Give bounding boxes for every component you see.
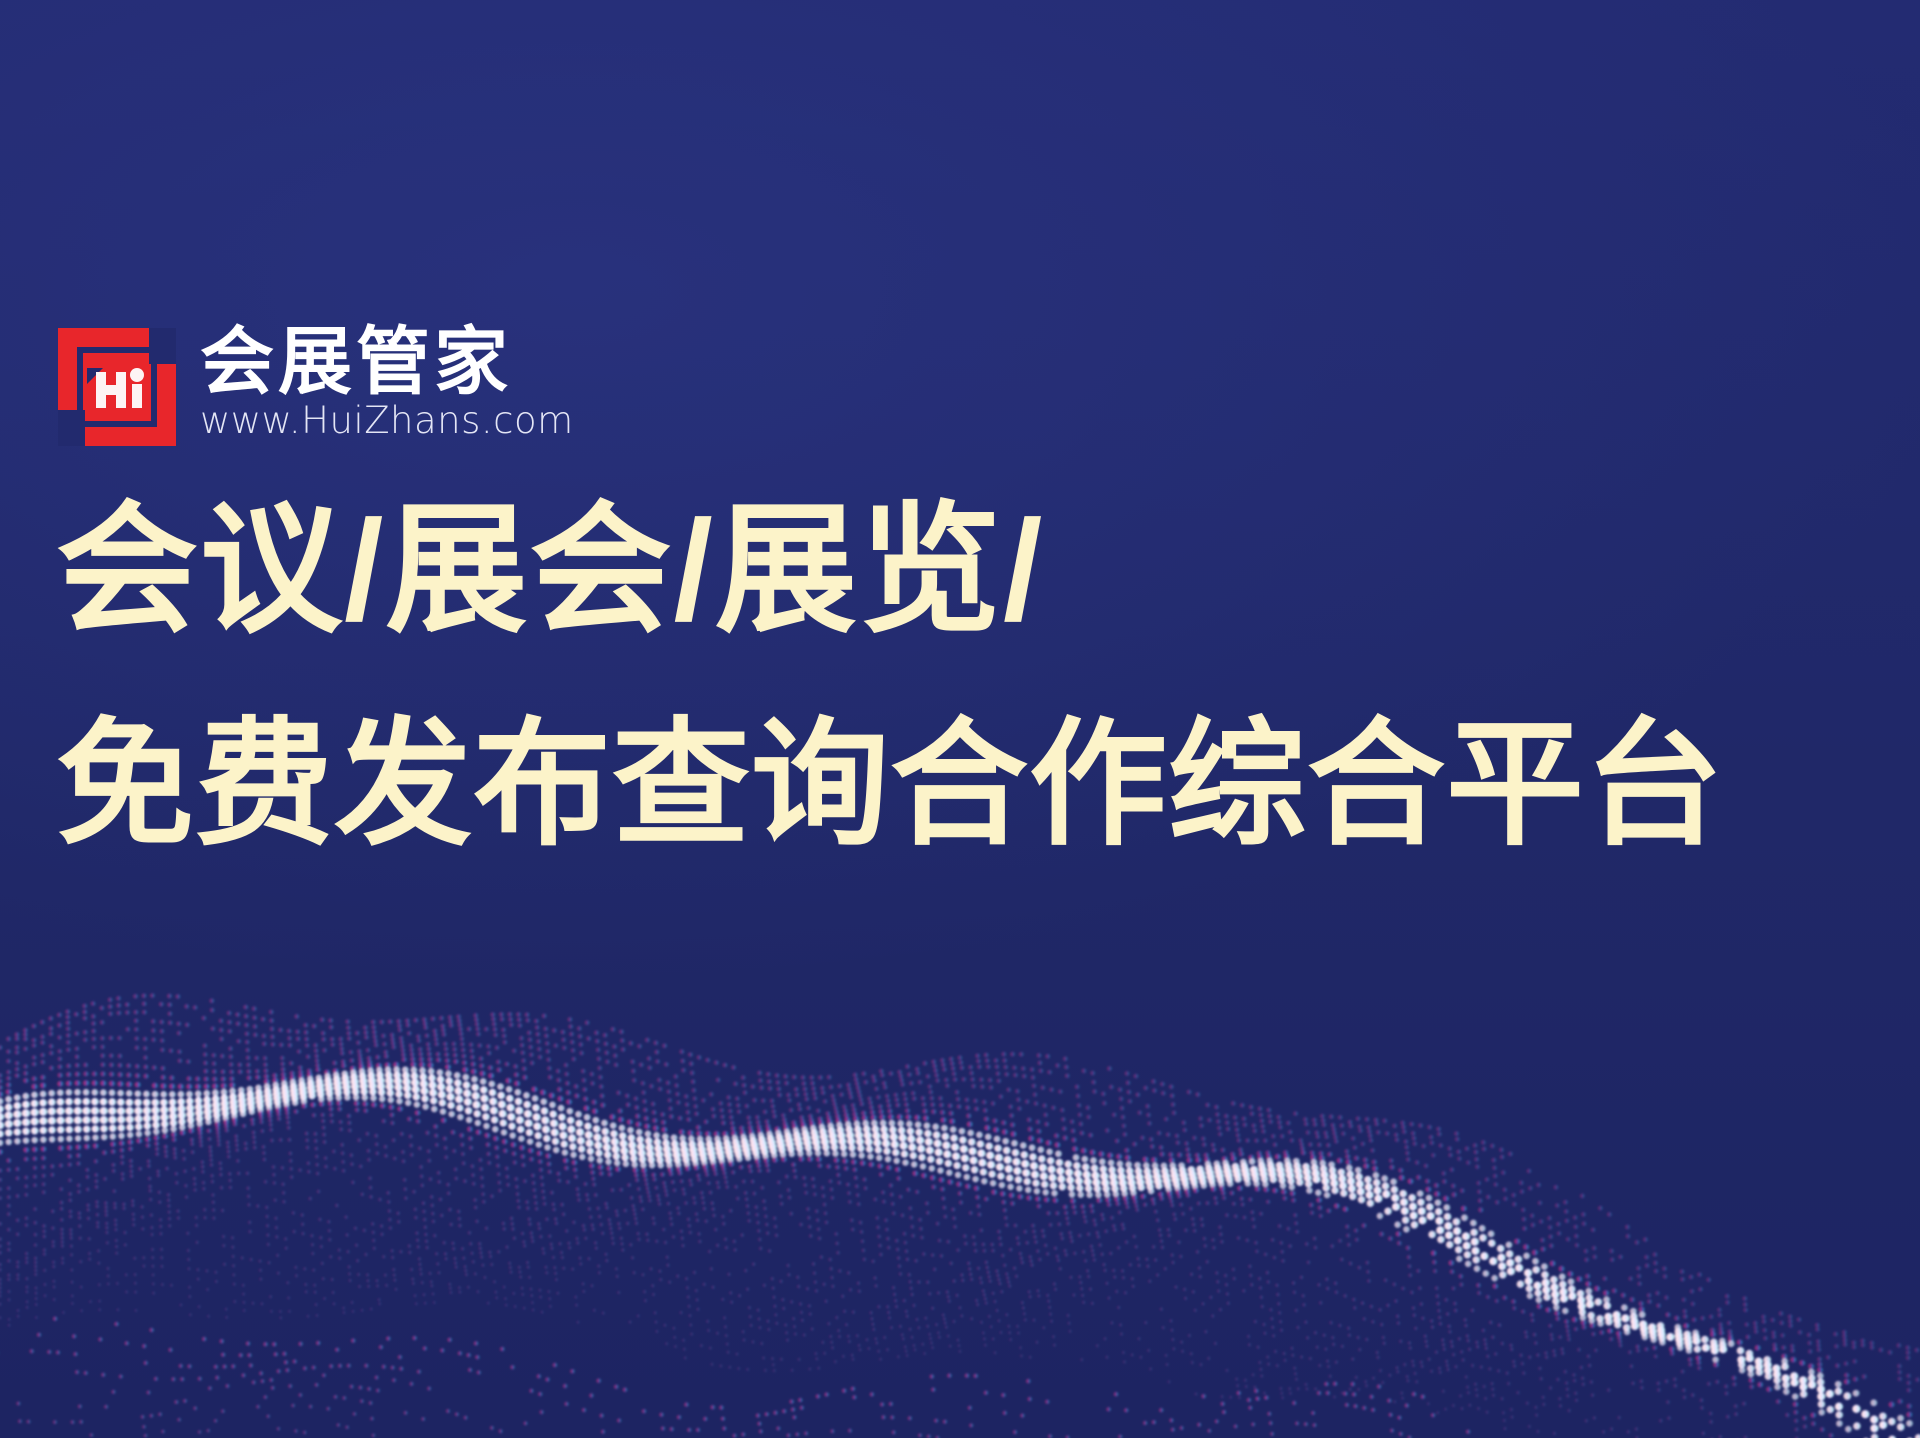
logo-letter-h-right-stem <box>116 372 126 408</box>
huizhans-logo-mark-icon <box>58 328 176 446</box>
particle-wave-svg <box>0 818 1920 1438</box>
poster-canvas: 会展管家 www.HuiZhans.com 会议/展会/展览/ 免费发布查询合作… <box>0 0 1920 1438</box>
headline-line-1: 会议/展会/展览/ <box>56 500 1856 642</box>
brand-text-block: 会展管家 www.HuiZhans.com <box>200 328 574 439</box>
brand-logo: 会展管家 www.HuiZhans.com <box>58 328 574 446</box>
headline-block: 会议/展会/展览/ 免费发布查询合作综合平台 <box>56 500 1856 854</box>
particle-wave-graphic <box>0 818 1920 1438</box>
brand-url: www.HuiZhans.com <box>200 402 574 439</box>
brand-name: 会展管家 <box>200 328 574 396</box>
logo-letter-i-stem <box>132 384 142 408</box>
logo-letter-i-dot <box>130 368 144 382</box>
